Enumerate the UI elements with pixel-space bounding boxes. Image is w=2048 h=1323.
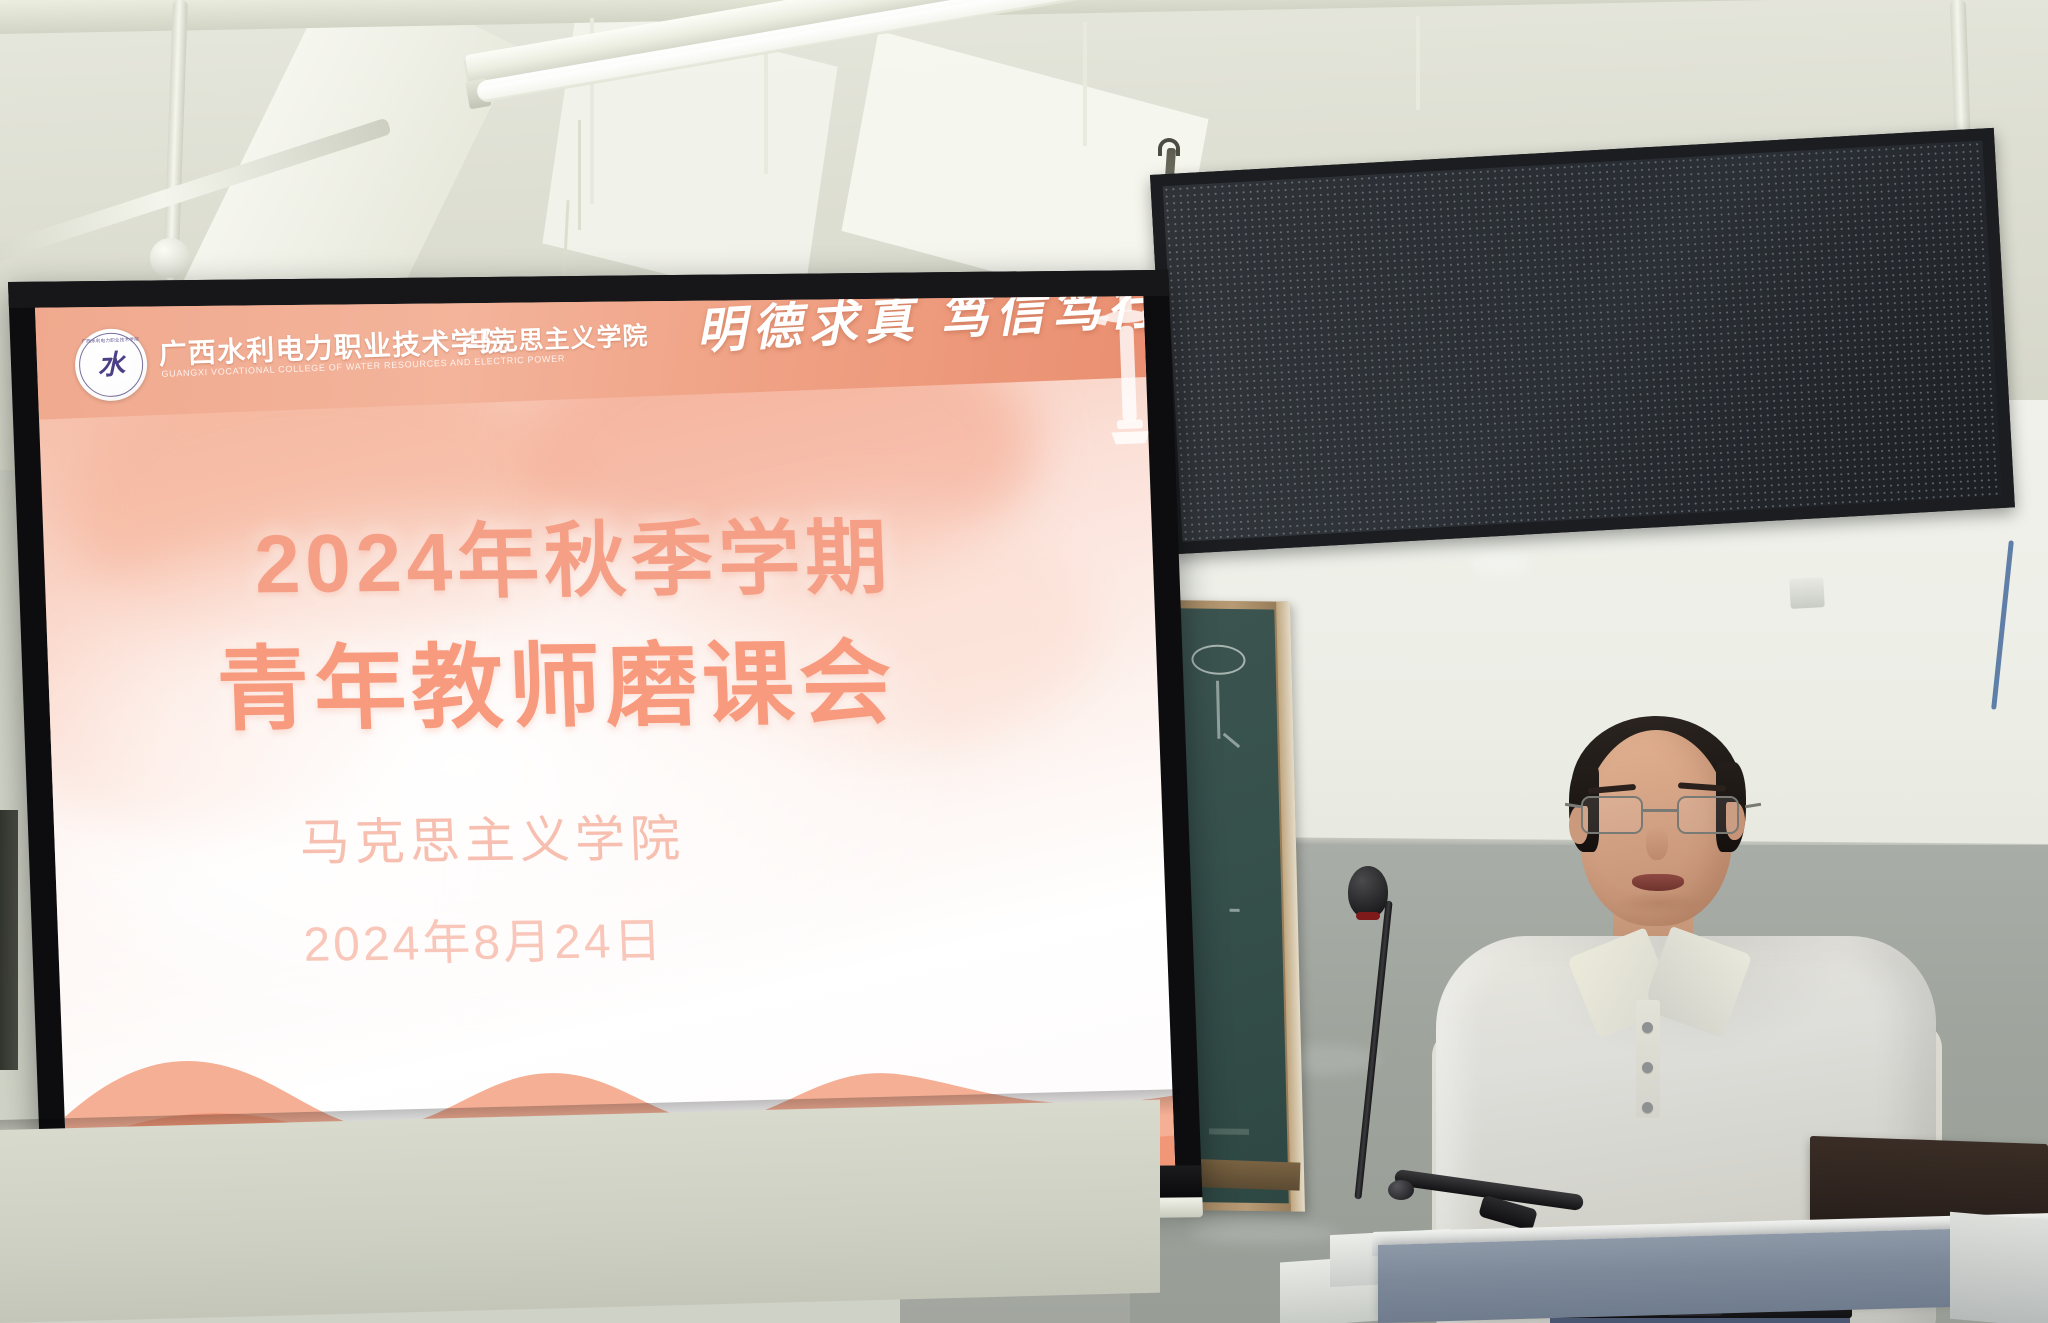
slide-subtitle-organization: 马克思主义学院 [298,799,686,875]
podium-side-panel [1950,1212,2048,1323]
shirt-placket [1636,1000,1660,1118]
glasses-bridge [1643,809,1677,812]
doorway-shadow [0,810,18,1070]
glasses-temple-right [1745,803,1761,808]
projection-screen: 广西水利电力职业技术学院 水 广西水利电力职业技术学院 GUANGXI VOCA… [8,270,1202,1212]
classroom-photo: CAUTION [0,0,2048,1323]
microphone-ring [1356,912,1380,920]
chalk-mark [1230,909,1240,912]
slide-subtitle-date: 2024年8月24日 [302,901,666,975]
wall-smudge [1470,550,1530,576]
slide-title-line-1: 2024年秋季学期 [252,491,894,617]
slide-title-line-2: 青年教师磨课会 [214,609,898,749]
screen-suspension-rod [578,120,581,230]
lens-left [1581,796,1643,834]
handheld-microphone-capsule [1388,1180,1414,1200]
microphone-head [1348,866,1388,918]
light-suspension-rod [1083,22,1087,146]
glasses-temple-left [1565,803,1581,808]
wall-below-screen [0,1100,1160,1323]
school-logo: 广西水利电力职业技术学院 水 [74,327,149,402]
wall-smudge [1190,1225,1340,1243]
department-name-cn: 马克思主义学院 [466,316,649,359]
chalk-mark [1209,1128,1249,1135]
shirt-button [1642,1062,1653,1073]
logo-glyph: 水 [93,347,128,382]
nose [1646,826,1668,860]
chalk-mark [1216,681,1220,739]
chin-shadow [1616,892,1702,914]
light-suspension-rod [1416,16,1420,110]
wall-outlet-plate [1789,577,1825,609]
mouth [1632,874,1684,891]
pipe-elbow [150,238,190,278]
chalk-mark [1223,733,1241,748]
shirt-button [1642,1022,1653,1033]
presentation-slide: 广西水利电力职业技术学院 水 广西水利电力职业技术学院 GUANGXI VOCA… [35,296,1175,1177]
chalk-drawing [1191,644,1246,675]
lens-right [1677,796,1739,834]
led-glare [1163,140,2003,541]
huabiao-column-icon [1089,296,1167,471]
led-display-panel[interactable] [1150,128,2015,555]
shirt-button [1642,1102,1653,1113]
